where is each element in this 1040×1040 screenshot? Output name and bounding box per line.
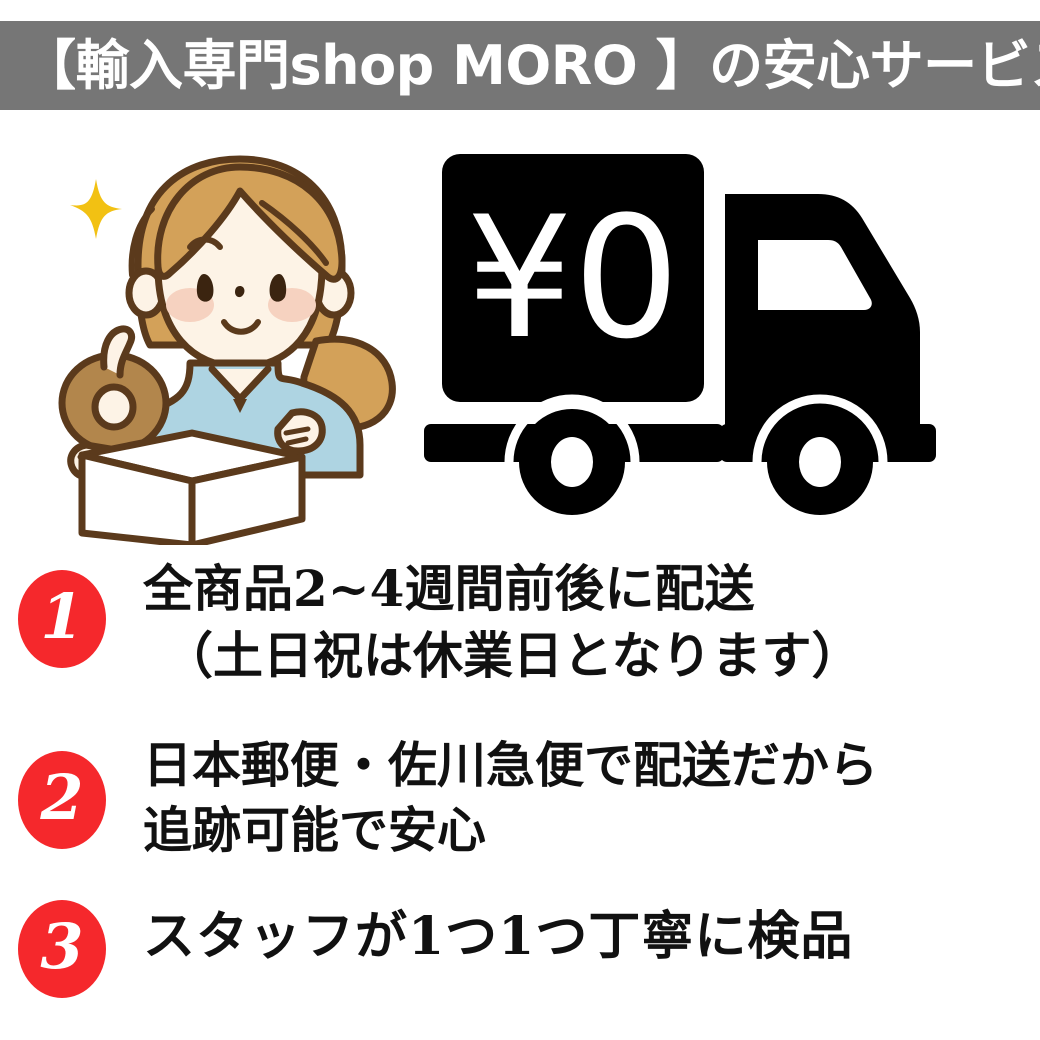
list-item-line1: スタッフが1つ1つ丁寧に検品 (143, 906, 853, 967)
truck-cab (725, 194, 920, 428)
list-number-badge-3: 3 (18, 900, 106, 998)
sparkle-icon (70, 179, 122, 239)
header-banner: 【輸入専門shop MORO 】の安心サービス (0, 21, 1040, 110)
promo-banner-page: 【輸入専門shop MORO 】の安心サービス (0, 0, 1040, 1040)
list-item: 1 全商品2~4週間前後に配送 （土日祝は休業日となります） (0, 548, 1040, 723)
woman-packing-box-illustration (40, 145, 430, 545)
illustration-band: ¥0 (0, 130, 1040, 545)
list-item: 2 日本郵便・佐川急便で配送だから 追跡可能で安心 (0, 733, 1040, 893)
list-item-text-1: 全商品2~4週間前後に配送 （土日祝は休業日となります） (143, 556, 1033, 689)
list-item: 3 スタッフが1つ1つ丁寧に検品 (0, 896, 1040, 1016)
delivery-truck-free-shipping-icon: ¥0 (420, 140, 1020, 530)
list-number-badge-1: 1 (18, 570, 106, 668)
list-number-badge-2: 2 (18, 751, 106, 849)
list-item-text-3: スタッフが1つ1つ丁寧に検品 (143, 902, 1033, 971)
truck-wheel-hub-rear (799, 437, 841, 487)
list-item-text-2: 日本郵便・佐川急便で配送だから 追跡可能で安心 (143, 733, 1033, 863)
page-title: 【輸入専門shop MORO 】の安心サービス (22, 39, 1040, 93)
service-list: 1 全商品2~4週間前後に配送 （土日祝は休業日となります） 2 日本郵便・佐川… (0, 548, 1040, 1040)
list-item-line1: 全商品2~4週間前後に配送 (143, 559, 754, 618)
list-item-line2: 追跡可能で安心 (143, 798, 1033, 863)
free-shipping-price-label: ¥0 (466, 180, 680, 376)
list-item-line2: （土日祝は休業日となります） (143, 623, 1033, 690)
truck-wheel-hub-front (551, 437, 593, 487)
list-item-line1: 日本郵便・佐川急便で配送だから (143, 736, 878, 794)
cardboard-box (82, 433, 302, 545)
